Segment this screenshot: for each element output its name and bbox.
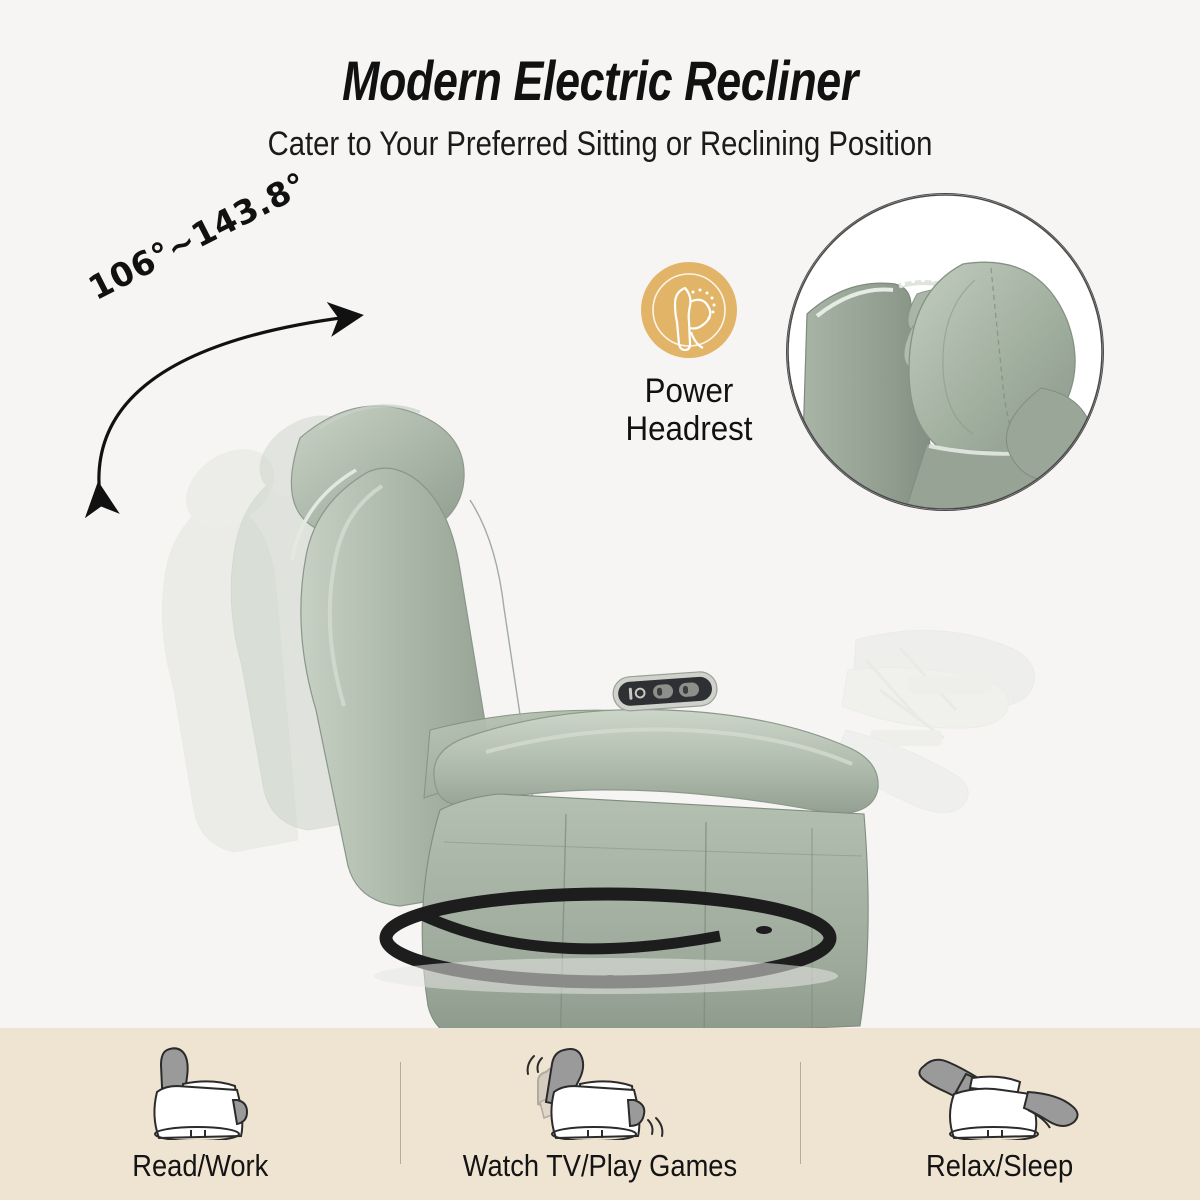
chair-fully-reclined-icon (910, 1044, 1090, 1140)
power-control-panel[interactable] (612, 671, 718, 712)
usage-modes-bar: Read/Work (0, 1028, 1200, 1200)
power-headrest-label-line2: Headrest (603, 410, 774, 448)
usage-mode-read-work[interactable]: Read/Work (0, 1028, 400, 1200)
floor-shadow (374, 958, 838, 994)
header: Modern Electric Recliner Cater to Your P… (0, 0, 1200, 164)
page-subtitle: Cater to Your Preferred Sitting or Recli… (84, 111, 1116, 164)
usage-mode-watch-tv[interactable]: Watch TV/Play Games (400, 1028, 800, 1200)
infographic-canvas: Modern Electric Recliner Cater to Your P… (0, 0, 1200, 1200)
page-title: Modern Electric Recliner (120, 0, 1080, 111)
usage-mode-label: Watch TV/Play Games (463, 1148, 737, 1184)
power-headrest-badge: Power Headrest (596, 262, 782, 448)
usage-mode-label: Relax/Sleep (926, 1148, 1073, 1184)
recline-angle-annotation: 106°~143.8° (60, 255, 400, 525)
power-headrest-icon (641, 262, 737, 358)
headrest-closeup-inset (786, 193, 1104, 511)
power-headrest-label-line1: Power (603, 372, 774, 410)
chair-rocking-icon (520, 1044, 680, 1140)
usage-mode-relax-sleep[interactable]: Relax/Sleep (800, 1028, 1200, 1200)
usage-mode-label: Read/Work (132, 1148, 268, 1184)
power-headrest-label: Power Headrest (603, 372, 774, 448)
chair-upright-icon (125, 1044, 275, 1140)
headrest-closeup-svg (787, 194, 1103, 510)
